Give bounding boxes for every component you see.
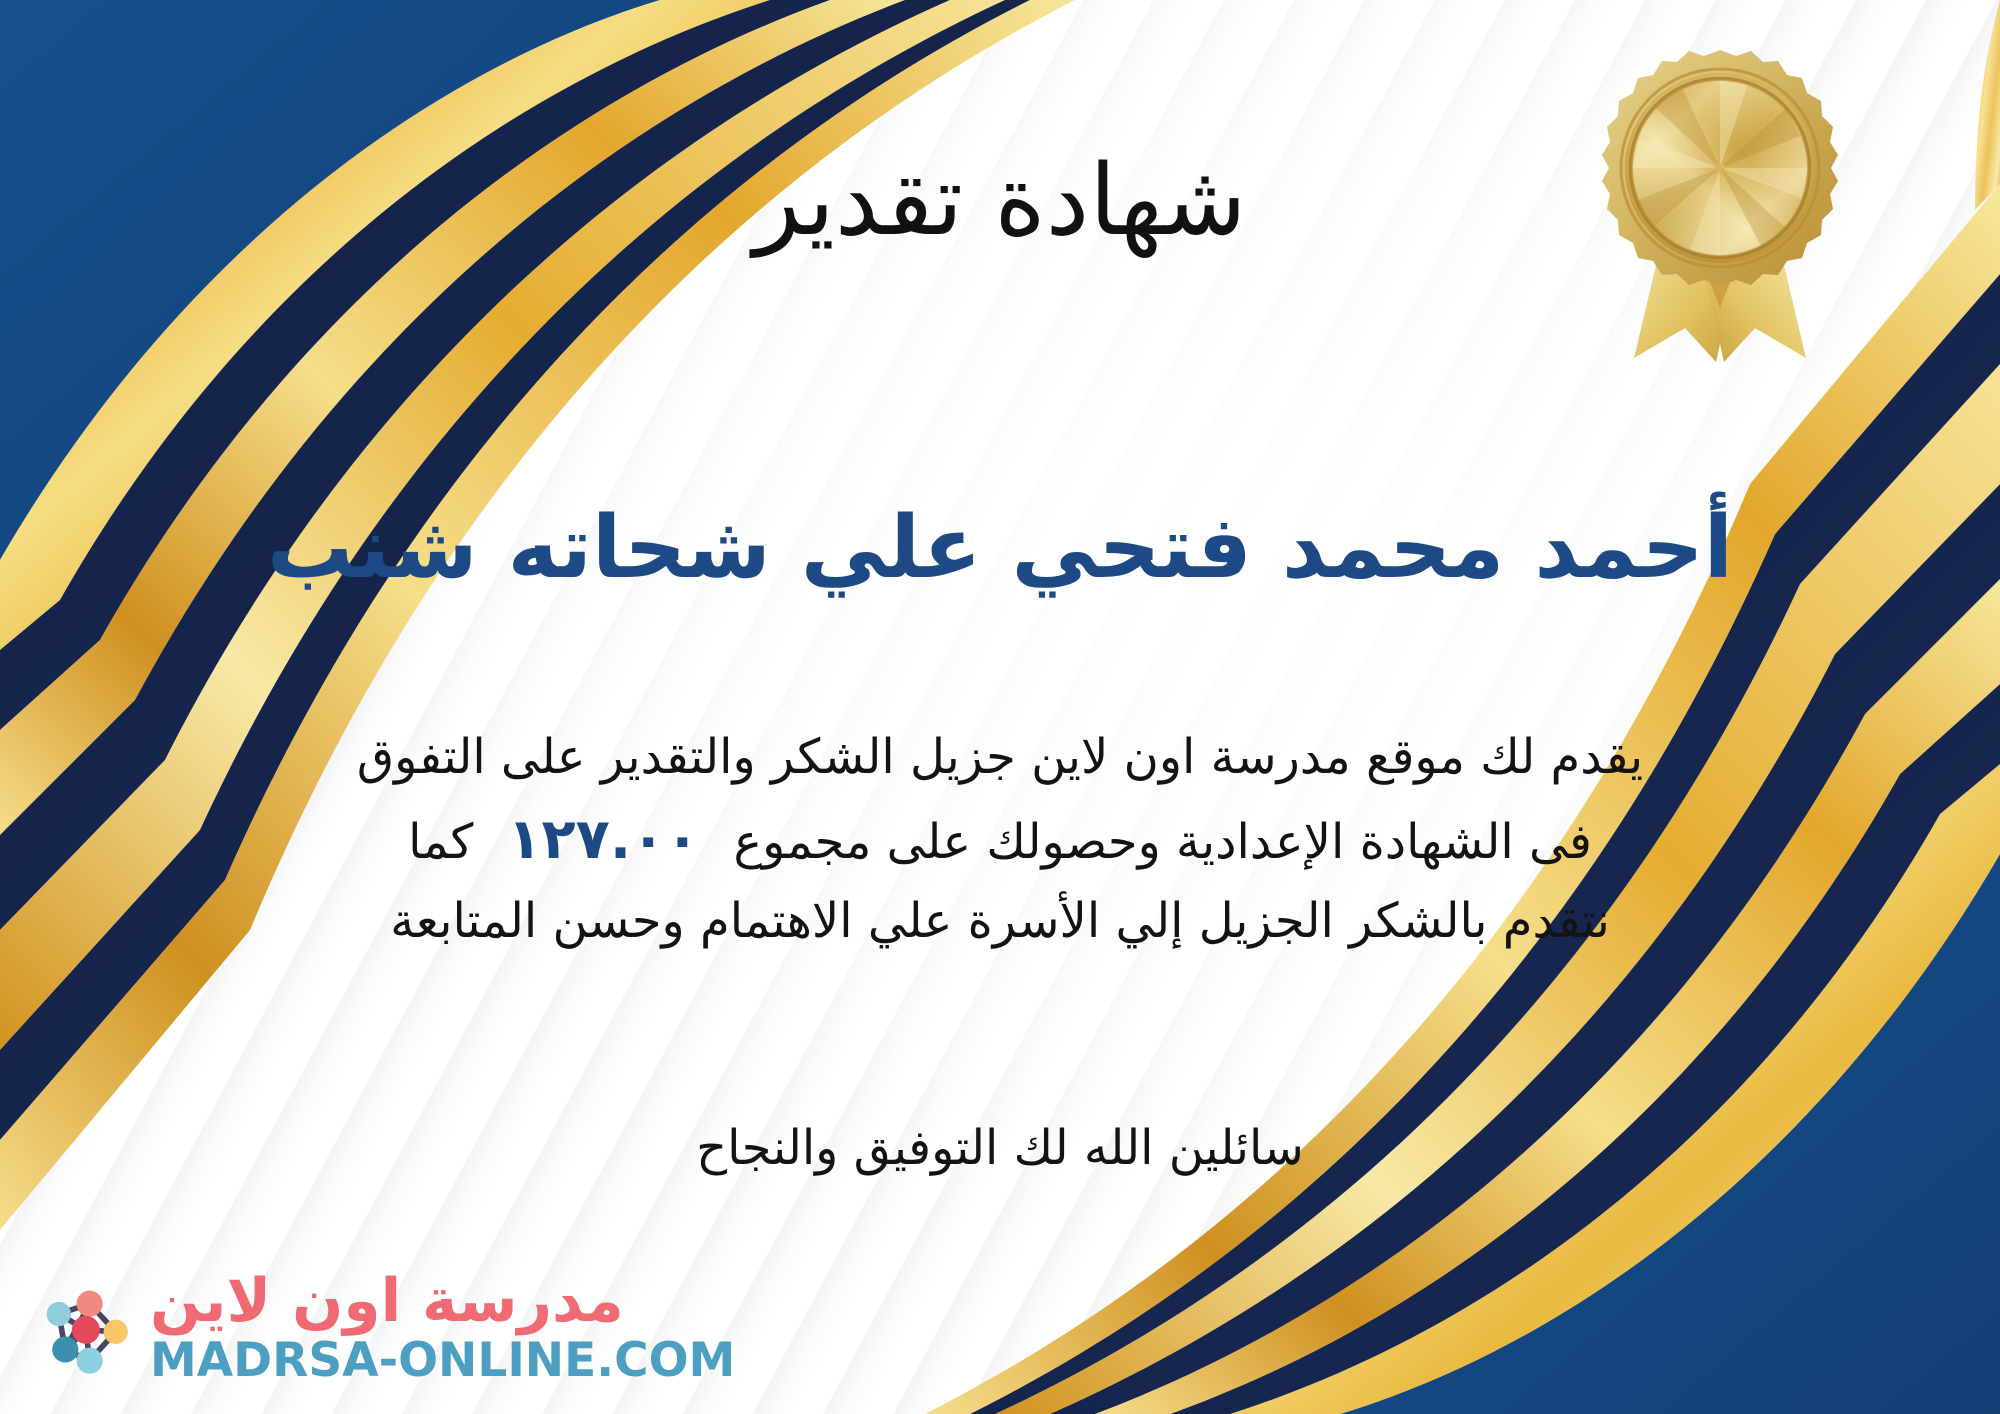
page-title: شهادة تقدير — [0, 150, 2000, 253]
body-line-3: نتقدم بالشكر الجزيل إلي الأسرة علي الاهت… — [60, 884, 1940, 960]
body-line-1: يقدم لك موقع مدرسة اون لاين جزيل الشكر و… — [60, 720, 1940, 796]
body-line-2-suffix: كما — [408, 814, 473, 870]
certificate-canvas: شهادة تقدير أحمد محمد فتحي علي شحاته شنب… — [0, 0, 2000, 1414]
total-score-value: ١٢٧.٠٠ — [473, 807, 733, 872]
network-nodes-icon — [28, 1272, 140, 1384]
body-line-2: فى الشهادة الإعدادية وحصولك على مجموع١٢٧… — [60, 796, 1940, 884]
logo-domain: MADRSA-ONLINE.COM — [150, 1337, 735, 1384]
body-line-2-prefix: فى الشهادة الإعدادية وحصولك على مجموع — [733, 814, 1591, 870]
certificate-content: شهادة تقدير أحمد محمد فتحي علي شحاته شنب… — [0, 0, 2000, 1414]
brand-logo[interactable]: مدرسة اون لاين MADRSA-ONLINE.COM — [28, 1271, 735, 1384]
student-name: أحمد محمد فتحي علي شحاته شنب — [0, 500, 2000, 596]
logo-arabic-name: مدرسة اون لاين — [150, 1271, 624, 1331]
logo-wordmark: مدرسة اون لاين MADRSA-ONLINE.COM — [150, 1271, 735, 1384]
certificate-body: يقدم لك موقع مدرسة اون لاين جزيل الشكر و… — [60, 720, 1940, 960]
closing-line: سائلين الله لك التوفيق والنجاح — [0, 1120, 2000, 1176]
